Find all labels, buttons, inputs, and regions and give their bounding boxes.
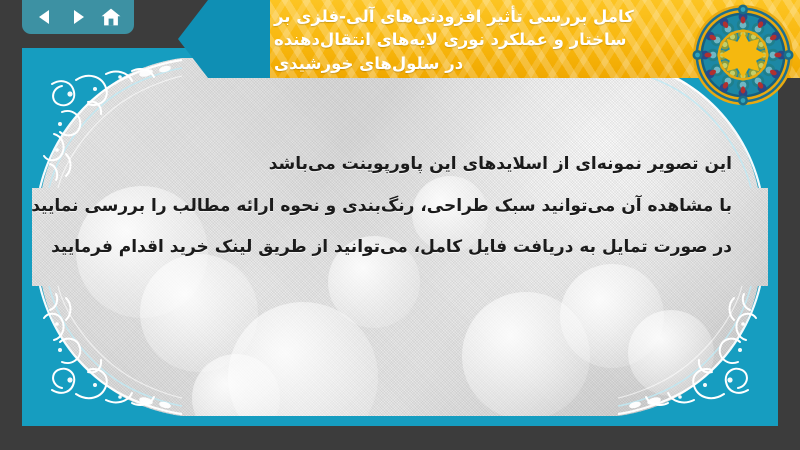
ornament-corner-bottom-right — [618, 286, 768, 416]
home-icon — [100, 7, 122, 27]
bokeh-circle — [228, 302, 378, 416]
bokeh-circle — [560, 264, 664, 368]
body-line-3: در صورت تمایل به دریافت فایل کامل، می‌تو… — [68, 227, 732, 269]
slide-preview-stage: این تصویر نمونه‌ای از اسلایدهای این پاور… — [0, 0, 800, 450]
slide-inner-panel: این تصویر نمونه‌ای از اسلایدهای این پاور… — [32, 58, 768, 416]
slide-body-text: این تصویر نمونه‌ای از اسلایدهای این پاور… — [68, 144, 732, 269]
ornament-corner-bottom-left — [32, 286, 182, 416]
triangle-right-icon — [68, 7, 88, 27]
triangle-left-icon — [35, 7, 55, 27]
body-line-2: با مشاهده آن می‌توانید سبک طراحی، رنگ‌بن… — [68, 186, 732, 228]
bokeh-circle — [140, 254, 258, 372]
bokeh-circle — [462, 292, 590, 416]
bokeh-circle — [192, 354, 280, 416]
body-line-1: این تصویر نمونه‌ای از اسلایدهای این پاور… — [68, 144, 732, 186]
slide-frame: این تصویر نمونه‌ای از اسلایدهای این پاور… — [22, 48, 778, 426]
back-button[interactable] — [32, 4, 58, 30]
forward-button[interactable] — [65, 4, 91, 30]
bokeh-circle — [628, 310, 714, 396]
title-line-1: کامل بررسی تأثیر افزودنی‌های آلی-فلزی بر — [274, 5, 634, 28]
navigation-bar — [22, 0, 134, 34]
home-button[interactable] — [98, 4, 124, 30]
